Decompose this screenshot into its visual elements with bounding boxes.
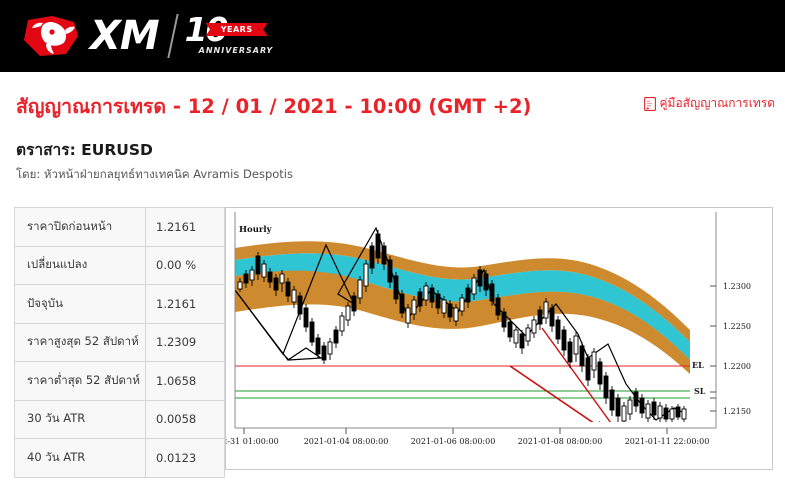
author-byline: โดย: หัวหน้าฝ่ายกลยุทธ์ทางเทคนิค Avramis… [16, 166, 293, 184]
y-tick-label: 1.2300 [723, 282, 751, 291]
stat-label: ปัจจุบัน [15, 285, 146, 324]
table-row: ปัจจุบัน 1.2161 [15, 285, 225, 324]
x-tick-label: 2021-01-11 22:00:00 [625, 437, 710, 446]
x-tick-label: 0-12-31 01:00:00 [226, 437, 279, 446]
stat-label: ราคาปิดก่อนหน้า [15, 208, 146, 247]
y-tick-label: 1.2200 [723, 362, 751, 371]
stat-value: 1.2309 [146, 323, 225, 362]
stats-table-body: ราคาปิดก่อนหน้า 1.2161 เปลี่ยนแปลง 0.00 … [15, 208, 225, 478]
stat-value: 0.00 % [146, 246, 225, 285]
stop-level-label: SL [694, 386, 706, 396]
trade-signal-guide-link[interactable]: คู่มือสัญญาณการเทรด [644, 94, 776, 113]
pdf-icon [644, 97, 656, 111]
stat-label: 40 วัน ATR [15, 439, 146, 478]
xm-wordmark: XM [90, 14, 159, 58]
trade-signal-page: XM 10 YEARS ANNIVERSARY สัญญาณการเทรด - … [0, 0, 785, 481]
anniversary-word: ANNIVERSARY [199, 46, 274, 55]
logo-divider [167, 14, 178, 58]
chart-canvas: Hourly 1.2300 1.2250 1.2200 1.2150 EL SL [226, 208, 772, 469]
timeframe-label: Hourly [239, 225, 273, 235]
anniversary-badge: 10 YEARS ANNIVERSARY [185, 13, 271, 59]
stat-value: 1.2161 [146, 285, 225, 324]
table-row: เปลี่ยนแปลง 0.00 % [15, 246, 225, 285]
stat-label: 30 วัน ATR [15, 400, 146, 439]
xm-logo[interactable]: XM 10 YEARS ANNIVERSARY [22, 13, 271, 59]
page-title: สัญญาณการเทรด - 12 / 01 / 2021 - 10:00 (… [16, 91, 531, 122]
guide-link-label: คู่มือสัญญาณการเทรด [660, 94, 776, 113]
instrument-stats-table: ราคาปิดก่อนหน้า 1.2161 เปลี่ยนแปลง 0.00 … [14, 207, 225, 478]
x-tick-label: 2021-01-06 08:00:00 [411, 437, 496, 446]
y-tick-label: 1.2150 [723, 407, 751, 416]
years-ribbon: YEARS [206, 23, 268, 36]
stat-label: ราคาต่ำสุด 52 สัปดาห์ [15, 362, 146, 401]
years-label: YEARS [206, 23, 268, 36]
table-row: ราคาต่ำสุด 52 สัปดาห์ 1.0658 [15, 362, 225, 401]
entry-level-label: EL [692, 360, 704, 370]
site-header-bar: XM 10 YEARS ANNIVERSARY [0, 0, 785, 72]
bull-head-icon [22, 14, 84, 58]
stat-label: เปลี่ยนแปลง [15, 246, 146, 285]
instrument-label: ตราสาร: EURUSD [16, 137, 153, 162]
stat-label: ราคาสูงสุด 52 สัปดาห์ [15, 323, 146, 362]
stat-value: 0.0123 [146, 439, 225, 478]
x-tick-label: 2021-01-04 08:00:00 [304, 437, 389, 446]
table-row: ราคาสูงสุด 52 สัปดาห์ 1.2309 [15, 323, 225, 362]
y-tick-label: 1.2250 [723, 322, 751, 331]
table-row: 40 วัน ATR 0.0123 [15, 439, 225, 478]
stat-value: 0.0058 [146, 400, 225, 439]
price-chart[interactable]: Hourly 1.2300 1.2250 1.2200 1.2150 EL SL [225, 207, 773, 470]
table-row: 30 วัน ATR 0.0058 [15, 400, 225, 439]
stat-value: 1.0658 [146, 362, 225, 401]
table-row: ราคาปิดก่อนหน้า 1.2161 [15, 208, 225, 247]
stat-value: 1.2161 [146, 208, 225, 247]
x-tick-label: 2021-01-08 08:00:00 [518, 437, 603, 446]
